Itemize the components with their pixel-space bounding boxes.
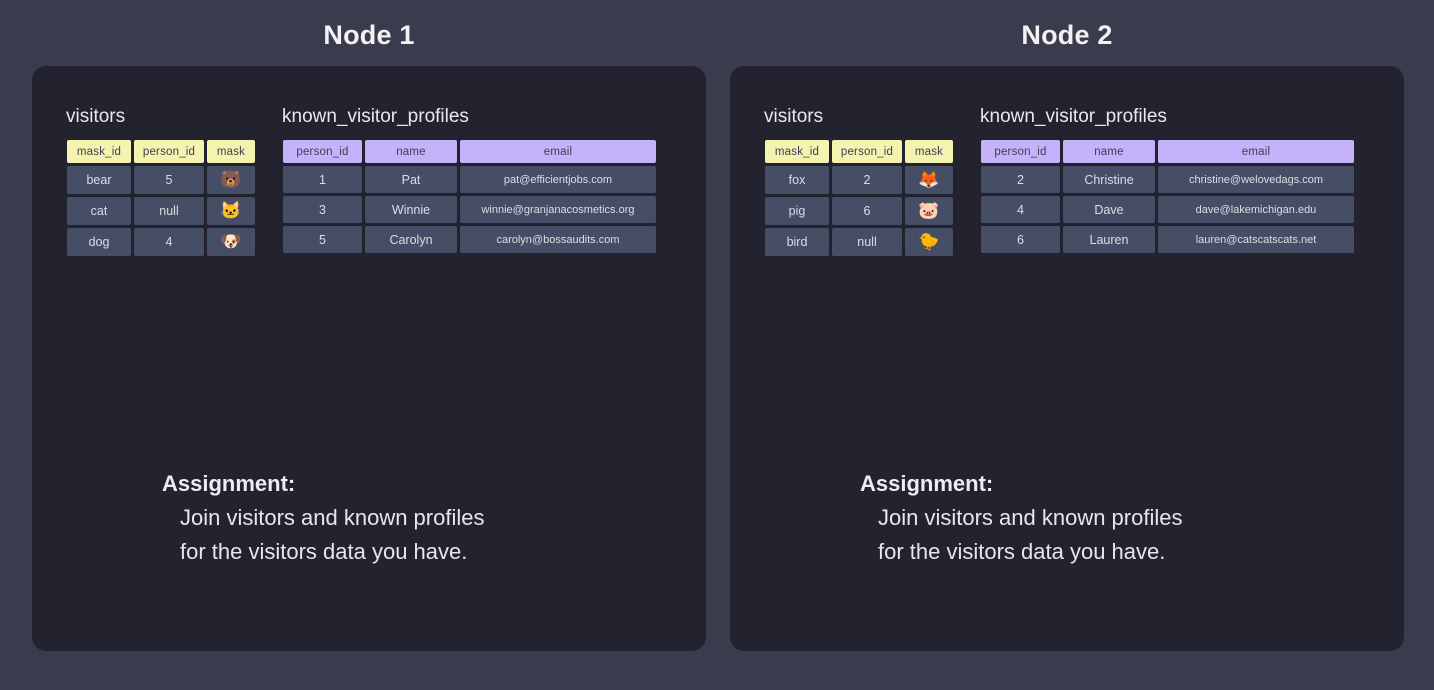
cell-person-id: 6: [832, 197, 902, 225]
cell-email: pat@efficientjobs.com: [460, 166, 656, 193]
assignment-line-2: for the visitors data you have.: [878, 535, 1182, 569]
table-row: 6 Lauren lauren@catscatscats.net: [981, 226, 1354, 253]
cell-email: lauren@catscatscats.net: [1158, 226, 1354, 253]
node-1-visitors-block: visitors mask_id person_id mask: [64, 106, 258, 259]
table-row: pig 6 🐷: [765, 197, 953, 225]
cell-mask-id: bear: [67, 166, 131, 194]
cell-email: carolyn@bossaudits.com: [460, 226, 656, 253]
column-header-person-id: person_id: [283, 140, 362, 163]
column-header-email: email: [460, 140, 656, 163]
assignment-heading: Assignment:: [162, 470, 484, 498]
assignment-body: Join visitors and known profiles for the…: [180, 501, 484, 569]
column-header-person-id: person_id: [981, 140, 1060, 163]
assignment-colon: :: [986, 471, 993, 496]
table-header-row: person_id name email: [981, 140, 1354, 163]
node-1-visitors-table: mask_id person_id mask bear 5 🐻 cat: [64, 137, 258, 259]
column-header-email: email: [1158, 140, 1354, 163]
cell-person-id: 6: [981, 226, 1060, 253]
assignment-line-2: for the visitors data you have.: [180, 535, 484, 569]
node-2-profiles-caption: known_visitor_profiles: [980, 106, 1357, 128]
assignment-line-1: Join visitors and known profiles: [180, 501, 484, 535]
table-header-row: mask_id person_id mask: [765, 140, 953, 163]
node-1-profiles-table: person_id name email 1 Pat pat@efficient…: [280, 137, 659, 256]
node-2-profiles-table: person_id name email 2 Christine christi…: [978, 137, 1357, 256]
assignment-heading: Assignment:: [860, 470, 1182, 498]
node-1-assignment: Assignment: Join visitors and known prof…: [130, 470, 484, 569]
node-2-title: Node 2: [730, 20, 1404, 51]
cell-mask-cat-icon: 🐱: [207, 197, 255, 225]
cell-email: winnie@granjanacosmetics.org: [460, 196, 656, 223]
node-1-profiles-block: known_visitor_profiles person_id name em…: [280, 106, 659, 256]
table-row: 4 Dave dave@lakemichigan.edu: [981, 196, 1354, 223]
cell-mask-dog-icon: 🐶: [207, 228, 255, 256]
table-row: bird null 🐤: [765, 228, 953, 256]
table-row: 3 Winnie winnie@granjanacosmetics.org: [283, 196, 656, 223]
table-row: cat null 🐱: [67, 197, 255, 225]
table-row: 1 Pat pat@efficientjobs.com: [283, 166, 656, 193]
cell-name: Carolyn: [365, 226, 457, 253]
column-header-mask: mask: [905, 140, 953, 163]
cell-mask-fox-icon: 🦊: [905, 166, 953, 194]
cell-mask-id: bird: [765, 228, 829, 256]
node-2-visitors-caption: visitors: [764, 106, 956, 128]
column-header-mask-id: mask_id: [67, 140, 131, 163]
cell-person-id: null: [134, 197, 204, 225]
cell-person-id: 2: [981, 166, 1060, 193]
assignment-colon: :: [288, 471, 295, 496]
cell-mask-id: pig: [765, 197, 829, 225]
table-row: bear 5 🐻: [67, 166, 255, 194]
node-2-assignment: Assignment: Join visitors and known prof…: [828, 470, 1182, 569]
table-header-row: mask_id person_id mask: [67, 140, 255, 163]
cell-person-id: 5: [283, 226, 362, 253]
table-row: 2 Christine christine@welovedags.com: [981, 166, 1354, 193]
node-2-profiles-block: known_visitor_profiles person_id name em…: [978, 106, 1357, 256]
column-header-person-id: person_id: [832, 140, 902, 163]
node-2-tables: visitors mask_id person_id mask: [762, 106, 1390, 259]
cell-mask-bear-icon: 🐻: [207, 166, 255, 194]
cell-person-id: 3: [283, 196, 362, 223]
node-2-visitors-table: mask_id person_id mask fox 2 🦊 pig: [762, 137, 956, 259]
cell-name: Lauren: [1063, 226, 1155, 253]
table-row: dog 4 🐶: [67, 228, 255, 256]
assignment-label: Assignment: [860, 471, 986, 496]
table-row: fox 2 🦊: [765, 166, 953, 194]
table-header-row: person_id name email: [283, 140, 656, 163]
cell-name: Winnie: [365, 196, 457, 223]
assignment-line-1: Join visitors and known profiles: [878, 501, 1182, 535]
table-row: 5 Carolyn carolyn@bossaudits.com: [283, 226, 656, 253]
cell-name: Pat: [365, 166, 457, 193]
cell-name: Christine: [1063, 166, 1155, 193]
cell-person-id: null: [832, 228, 902, 256]
column-header-mask-id: mask_id: [765, 140, 829, 163]
column-header-name: name: [1063, 140, 1155, 163]
cell-name: Dave: [1063, 196, 1155, 223]
column-header-mask: mask: [207, 140, 255, 163]
node-1-tables: visitors mask_id person_id mask: [64, 106, 692, 259]
cell-email: christine@welovedags.com: [1158, 166, 1354, 193]
cell-mask-chick-icon: 🐤: [905, 228, 953, 256]
assignment-body: Join visitors and known profiles for the…: [878, 501, 1182, 569]
diagram-stage: Node 1 visitors mask_id person_id mask: [0, 0, 1434, 690]
cell-email: dave@lakemichigan.edu: [1158, 196, 1354, 223]
node-1-title: Node 1: [32, 20, 706, 51]
column-header-person-id: person_id: [134, 140, 204, 163]
node-2-panel: visitors mask_id person_id mask: [730, 66, 1404, 651]
cell-mask-id: cat: [67, 197, 131, 225]
node-1-panel: visitors mask_id person_id mask: [32, 66, 706, 651]
cell-mask-id: dog: [67, 228, 131, 256]
cell-person-id: 4: [981, 196, 1060, 223]
node-2-visitors-block: visitors mask_id person_id mask: [762, 106, 956, 259]
cell-mask-pig-icon: 🐷: [905, 197, 953, 225]
column-header-name: name: [365, 140, 457, 163]
cell-person-id: 2: [832, 166, 902, 194]
node-1-profiles-caption: known_visitor_profiles: [282, 106, 659, 128]
node-1-visitors-caption: visitors: [66, 106, 258, 128]
cell-person-id: 5: [134, 166, 204, 194]
cell-person-id: 1: [283, 166, 362, 193]
assignment-label: Assignment: [162, 471, 288, 496]
cell-mask-id: fox: [765, 166, 829, 194]
cell-person-id: 4: [134, 228, 204, 256]
